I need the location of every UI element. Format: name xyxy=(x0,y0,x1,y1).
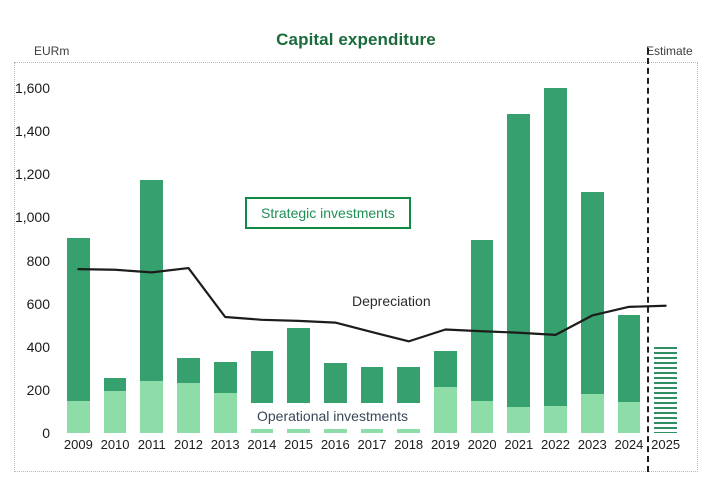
y-axis-tick: 400 xyxy=(0,339,50,355)
y-axis-tick: 600 xyxy=(0,296,50,312)
x-axis-tick: 2023 xyxy=(578,437,607,452)
y-axis-tick: 1,000 xyxy=(0,209,50,225)
x-axis-tick: 2014 xyxy=(247,437,276,452)
x-axis-tick: 2024 xyxy=(614,437,643,452)
x-axis-tick: 2009 xyxy=(64,437,93,452)
x-axis-tick: 2022 xyxy=(541,437,570,452)
x-axis-tick: 2025 xyxy=(651,437,680,452)
x-axis-tick: 2010 xyxy=(101,437,130,452)
x-axis-tick: 2011 xyxy=(138,437,166,452)
estimate-region-label: Estimate xyxy=(646,44,693,58)
x-axis-tick: 2018 xyxy=(394,437,423,452)
x-axis-tick: 2019 xyxy=(431,437,460,452)
chart-root: Capital expenditure EURm Estimate 020040… xyxy=(0,0,712,490)
estimate-divider xyxy=(647,48,649,472)
x-axis-tick: 2012 xyxy=(174,437,203,452)
depreciation-line xyxy=(60,88,684,433)
strategic-investments-label: Strategic investments xyxy=(245,197,411,229)
x-axis-tick: 2013 xyxy=(211,437,240,452)
operational-investments-label: Operational investments xyxy=(244,403,421,429)
x-axis-tick: 2016 xyxy=(321,437,350,452)
y-axis-tick: 800 xyxy=(0,253,50,269)
x-axis-tick: 2021 xyxy=(504,437,533,452)
y-axis-tick: 0 xyxy=(0,425,50,441)
x-axis-tick-labels: 2009201020112012201320142015201620172018… xyxy=(60,437,684,461)
x-axis-tick: 2015 xyxy=(284,437,313,452)
x-axis-tick: 2017 xyxy=(358,437,387,452)
y-axis-tick: 200 xyxy=(0,382,50,398)
y-axis-tick-labels: 02004006008001,0001,2001,4001,600 xyxy=(0,0,56,490)
y-axis-tick: 1,400 xyxy=(0,123,50,139)
depreciation-label: Depreciation xyxy=(347,291,436,311)
page-title: Capital expenditure xyxy=(0,30,712,50)
y-axis-tick: 1,600 xyxy=(0,80,50,96)
x-axis-tick: 2020 xyxy=(468,437,497,452)
y-axis-tick: 1,200 xyxy=(0,166,50,182)
